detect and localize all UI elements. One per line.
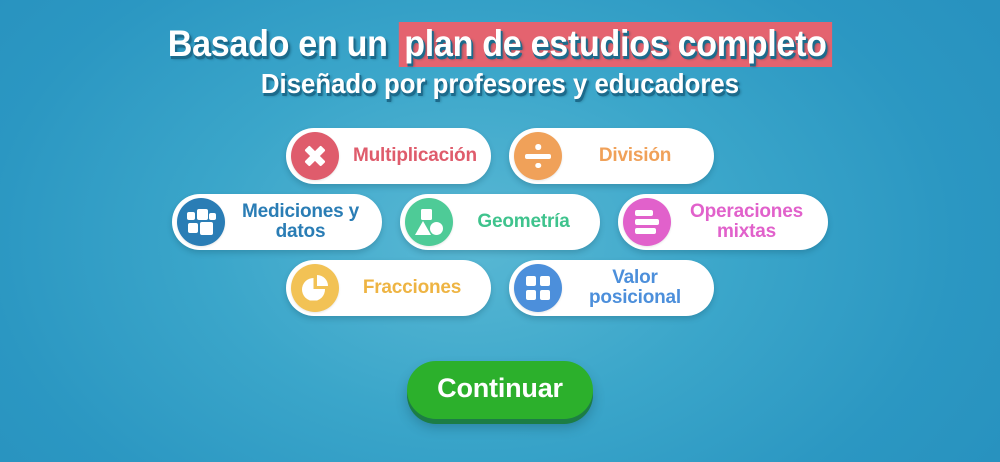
geometry-shapes-icon: [405, 198, 453, 246]
divide-icon: [514, 132, 562, 180]
topic-chip-multiplicacion[interactable]: Multiplicación: [286, 128, 491, 184]
topic-chip-label: Multiplicación: [339, 146, 491, 166]
topic-chip-list: Multiplicación División Mediciones y dat…: [0, 128, 1000, 326]
title-plain-text: Basado en un: [168, 23, 397, 64]
topic-chip-mediciones-y-datos[interactable]: Mediciones y datos: [172, 194, 382, 250]
onboarding-screen: Basado en un plan de estudios completo D…: [0, 0, 1000, 462]
pie-chart-icon: [291, 264, 339, 312]
topic-chip-operaciones-mixtas[interactable]: Operaciones mixtas: [618, 194, 828, 250]
grid-squares-icon: [514, 264, 562, 312]
topic-chip-valor-posicional[interactable]: Valor posicional: [509, 260, 714, 316]
multiply-icon: [291, 132, 339, 180]
topic-chip-label: Geometría: [453, 212, 594, 232]
topic-chip-label: Mediciones y datos: [225, 202, 376, 241]
topic-chip-label: Operaciones mixtas: [671, 202, 822, 241]
topic-row-1: Multiplicación División: [0, 128, 1000, 184]
mixed-operations-icon: [623, 198, 671, 246]
page-title: Basado en un plan de estudios completo: [40, 24, 960, 64]
headline-block: Basado en un plan de estudios completo D…: [0, 24, 1000, 100]
cta-container: Continuar: [0, 361, 1000, 419]
topic-chip-label: Valor posicional: [562, 268, 708, 307]
topic-chip-division[interactable]: División: [509, 128, 714, 184]
topic-row-2: Mediciones y datos Geometría Operaciones…: [0, 194, 1000, 250]
topic-row-3: Fracciones Valor posicional: [0, 260, 1000, 316]
topic-chip-fracciones[interactable]: Fracciones: [286, 260, 491, 316]
topic-chip-label: Fracciones: [339, 278, 485, 298]
topic-chip-geometria[interactable]: Geometría: [400, 194, 600, 250]
page-subtitle: Diseñado por profesores y educadores: [40, 69, 960, 100]
topic-chip-label: División: [562, 146, 708, 166]
title-highlight-text: plan de estudios completo: [399, 22, 832, 67]
measurement-data-icon: [177, 198, 225, 246]
continue-button[interactable]: Continuar: [407, 361, 593, 419]
